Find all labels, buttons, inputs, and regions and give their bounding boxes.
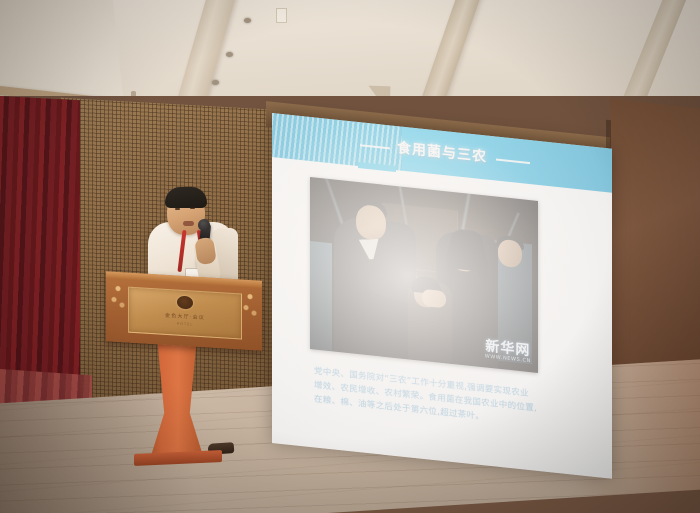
- podium-emblem-icon: [177, 296, 193, 310]
- speaker-mouth: [183, 221, 194, 226]
- ceiling-tag: [276, 8, 287, 23]
- speaker-eye: [190, 207, 195, 209]
- podium-ornament: [240, 290, 260, 319]
- podium-ornament: [108, 282, 128, 311]
- downlight-icon: [244, 18, 251, 23]
- speaker-hair: [165, 187, 207, 208]
- downlight-icon: [226, 52, 233, 57]
- projection-screen: 食用菌与三农 新: [272, 113, 612, 479]
- speaker-hand: [194, 237, 216, 265]
- speaker-eye: [175, 208, 180, 210]
- podium: 金色大厅·会议 HOTEL: [106, 271, 262, 351]
- podium-plaque: 金色大厅·会议 HOTEL: [128, 287, 242, 340]
- downlight-icon: [212, 80, 219, 85]
- slide-body-text: 党中央、国务院对“三农”工作十分重视,强调要实现农业 增效、农民增收、农村繁荣。…: [314, 364, 572, 433]
- slide-photo: 新华网 WWW.NEWS.CN: [310, 177, 538, 373]
- conference-photo-scene: 食用菌与三农 新: [0, 0, 700, 513]
